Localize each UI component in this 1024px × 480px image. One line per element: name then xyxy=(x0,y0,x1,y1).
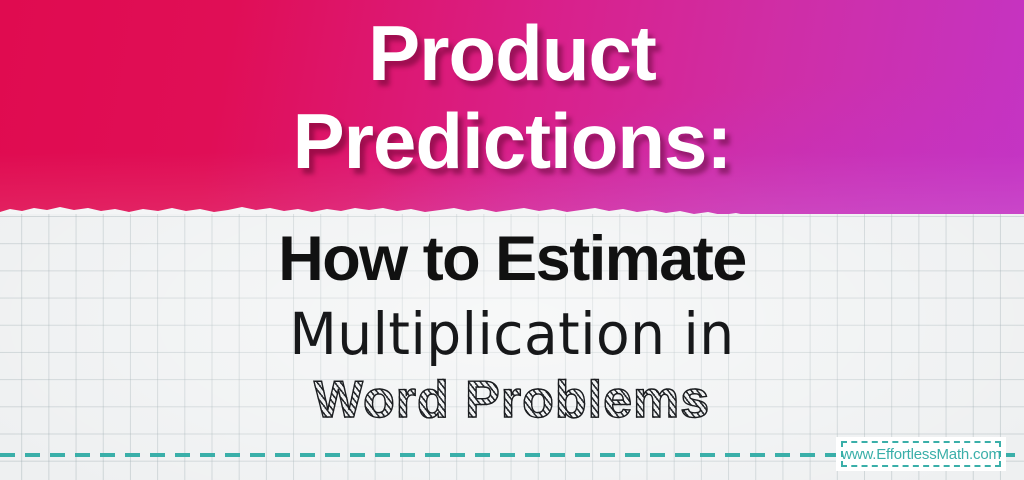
banner-title-line-2: Predictions: xyxy=(0,102,1024,180)
graphic-canvas: Product Predictions: How to Estimate Mul… xyxy=(0,0,1024,480)
body-emphasis-heading: Word Problems xyxy=(0,374,1024,426)
body-heading: How to Estimate xyxy=(0,228,1024,291)
body-subheading: Multiplication in xyxy=(0,305,1024,363)
website-url-label: www.EffortlessMath.com xyxy=(841,446,1001,463)
banner-gradient-background: Product Predictions: xyxy=(0,0,1024,222)
website-badge[interactable]: www.EffortlessMath.com xyxy=(836,437,1006,471)
banner-title-line-1: Product xyxy=(0,14,1024,92)
